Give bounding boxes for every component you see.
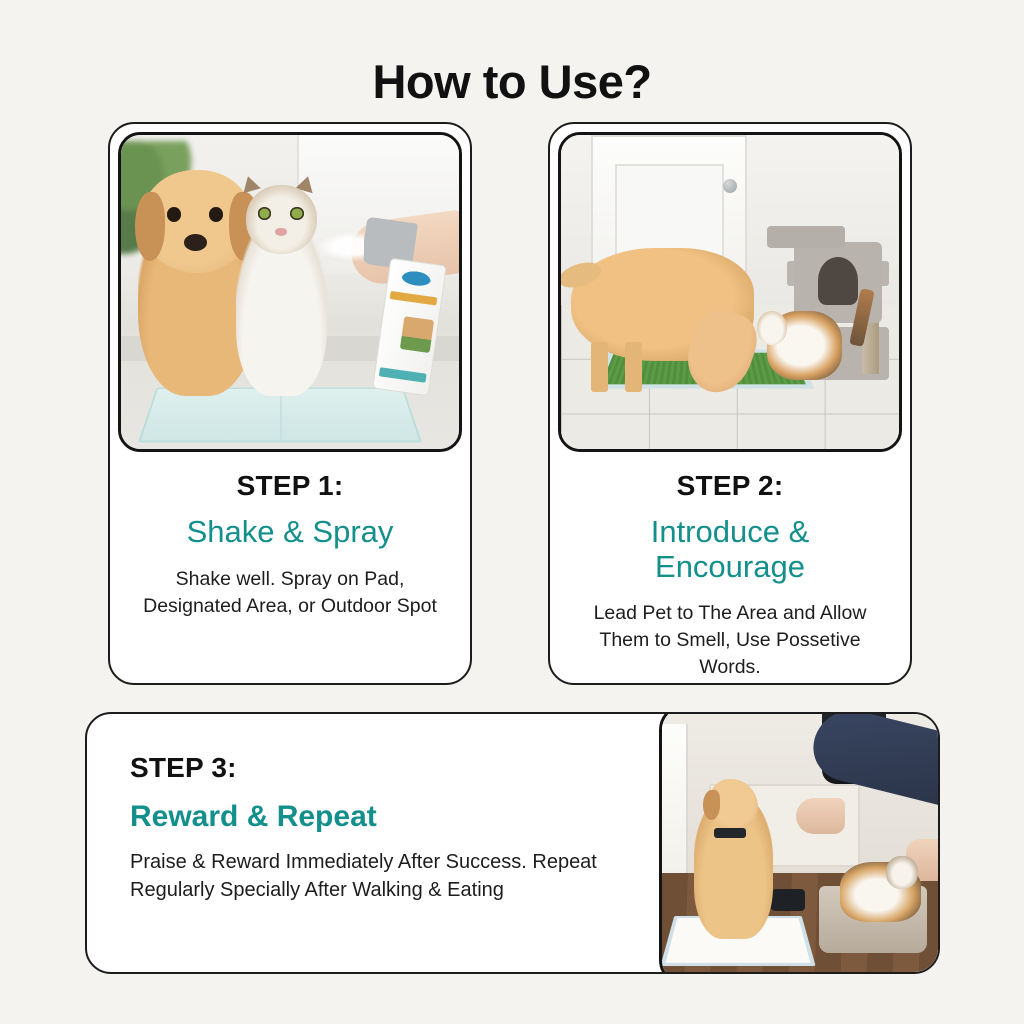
step-3-label: STEP 3: (130, 752, 610, 784)
step-1-label: STEP 1: (132, 470, 448, 502)
spray-mist (317, 232, 364, 260)
dog-leg-back (625, 342, 642, 392)
cat-tree-opening (818, 257, 859, 304)
page-title: How to Use? (0, 54, 1024, 109)
step-3-text: STEP 3: Reward & Repeat Praise & Reward … (130, 752, 610, 905)
hallway-window (662, 724, 688, 873)
bottle-label-band (390, 291, 437, 305)
litter-cat-head (886, 856, 918, 889)
step-1-text: STEP 1: Shake & Spray Shake well. Spray … (110, 452, 470, 620)
step-2-photo (558, 132, 902, 452)
step-1-subtitle: Shake & Spray (132, 515, 448, 550)
step-card-3: STEP 3: Reward & Repeat Praise & Reward … (85, 712, 940, 974)
cat-eye-right (290, 207, 304, 220)
cat-head (246, 185, 317, 254)
bottle-label-footer (380, 367, 427, 382)
puppy-eye-left (167, 207, 181, 221)
step-1-photo (118, 132, 462, 452)
step-card-2: STEP 2: Introduce & Encourage Lead Pet t… (548, 122, 912, 685)
cat-tree-top-shelf (767, 226, 845, 248)
step-3-description: Praise & Reward Immediately After Succes… (130, 848, 610, 905)
puppy-ear-left (135, 192, 165, 261)
puppy-eye-right (209, 207, 223, 221)
dog-leg-front (591, 342, 608, 392)
step-3-subtitle: Reward & Repeat (130, 800, 610, 834)
step-2-subtitle: Introduce & Encourage (572, 515, 888, 584)
step-card-1: STEP 1: Shake & Spray Shake well. Spray … (108, 122, 472, 685)
bottle-logo-icon (402, 269, 433, 287)
step-2-label: STEP 2: (572, 470, 888, 502)
puppy-collar (714, 828, 746, 838)
step-3-photo (659, 712, 940, 974)
treat-hand (796, 798, 845, 834)
cat-eye-left (258, 207, 272, 220)
bottle-label-artwork (400, 315, 434, 353)
step-1-description: Shake well. Spray on Pad, Designated Are… (132, 566, 448, 620)
cat-nose (275, 228, 286, 236)
step-2-text: STEP 2: Introduce & Encourage Lead Pet t… (550, 452, 910, 681)
step-2-description: Lead Pet to The Area and Allow Them to S… (572, 600, 888, 681)
